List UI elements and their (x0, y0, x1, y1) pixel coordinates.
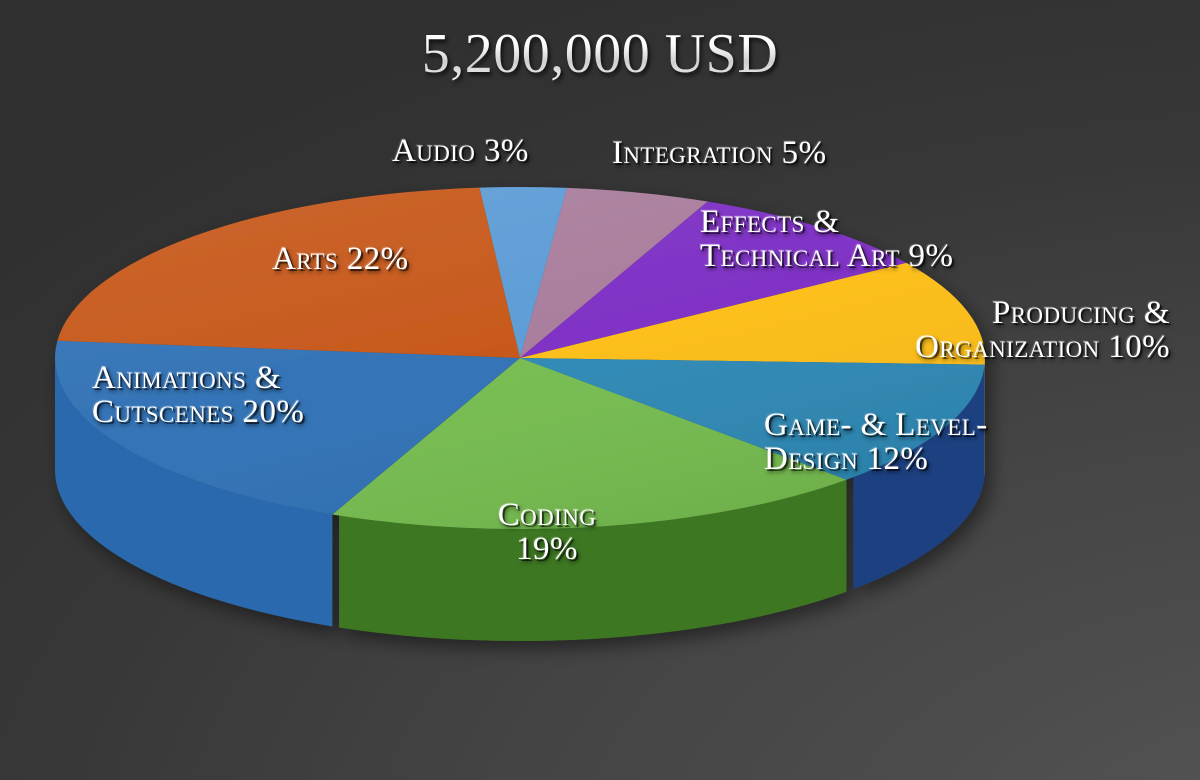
chart-canvas: 5,200,000 USD Audio 3% Integration 5% Ef… (0, 0, 1200, 780)
pie-chart-graphic (0, 0, 1200, 780)
